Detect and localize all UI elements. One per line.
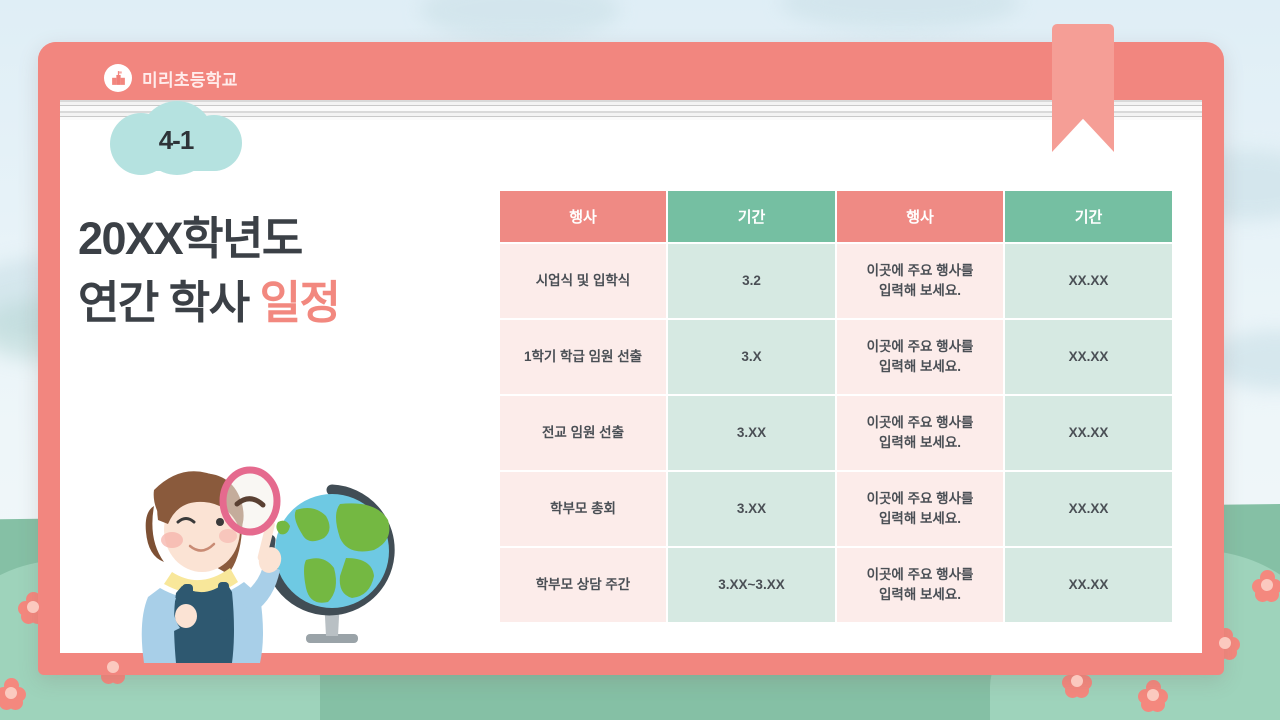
table-row: 시업식 및 입학식3.2이곳에 주요 행사를입력해 보세요.XX.XX [500, 244, 1172, 318]
cell-period-left: 3.2 [668, 244, 835, 318]
cloud-shape [780, 0, 1020, 30]
schedule-table: 행사 기간 행사 기간 시업식 및 입학식3.2이곳에 주요 행사를입력해 보세… [498, 189, 1174, 624]
page-title: 20XX학년도 연간 학사 일정 [78, 207, 458, 335]
flower-icon [1138, 680, 1168, 710]
column-header-event-right: 행사 [837, 191, 1003, 242]
cell-period-left: 3.XX~3.XX [668, 548, 835, 622]
cell-event-right: 이곳에 주요 행사를입력해 보세요. [837, 396, 1003, 470]
cell-period-right: XX.XX [1005, 244, 1172, 318]
cell-period-left: 3.X [668, 320, 835, 394]
column-header-period-left: 기간 [668, 191, 835, 242]
cell-period-right: XX.XX [1005, 320, 1172, 394]
school-building-icon [104, 64, 132, 92]
flower-icon [0, 678, 26, 708]
cell-event-right: 이곳에 주요 행사를입력해 보세요. [837, 472, 1003, 546]
column-header-period-right: 기간 [1005, 191, 1172, 242]
table-row: 학부모 상담 주간3.XX~3.XX이곳에 주요 행사를입력해 보세요.XX.X… [500, 548, 1172, 622]
title-block: 4-1 20XX학년도 연간 학사 일정 [78, 105, 458, 335]
cell-event-left: 학부모 상담 주간 [500, 548, 666, 622]
cell-event-left: 1학기 학급 임원 선출 [500, 320, 666, 394]
table-header-row: 행사 기간 행사 기간 [500, 191, 1172, 242]
title-line-2-plain: 연간 학사 [78, 277, 260, 328]
table-row: 1학기 학급 임원 선출3.X이곳에 주요 행사를입력해 보세요.XX.XX [500, 320, 1172, 394]
cell-event-left: 학부모 총회 [500, 472, 666, 546]
table-row: 전교 임원 선출3.XX이곳에 주요 행사를입력해 보세요.XX.XX [500, 396, 1172, 470]
cell-period-left: 3.XX [668, 472, 835, 546]
title-line-2-accent: 일정 [260, 277, 340, 328]
illustration-girl-with-globe [110, 448, 430, 663]
grade-badge-label: 4-1 [110, 125, 242, 156]
school-logo: 미리초등학교 [104, 64, 238, 92]
column-header-event-left: 행사 [500, 191, 666, 242]
flower-icon [1252, 570, 1280, 600]
cell-event-left: 전교 임원 선출 [500, 396, 666, 470]
cell-period-right: XX.XX [1005, 396, 1172, 470]
cloud-shape [420, 0, 620, 40]
title-line-2: 연간 학사 일정 [78, 271, 458, 335]
cell-period-left: 3.XX [668, 396, 835, 470]
cell-period-right: XX.XX [1005, 548, 1172, 622]
school-name: 미리초등학교 [142, 66, 238, 91]
cell-event-left: 시업식 및 입학식 [500, 244, 666, 318]
grade-badge: 4-1 [110, 105, 242, 173]
cell-event-right: 이곳에 주요 행사를입력해 보세요. [837, 244, 1003, 318]
header-tab-curve [332, 42, 378, 100]
table-row: 학부모 총회3.XX이곳에 주요 행사를입력해 보세요.XX.XX [500, 472, 1172, 546]
cell-event-right: 이곳에 주요 행사를입력해 보세요. [837, 548, 1003, 622]
cell-period-right: XX.XX [1005, 472, 1172, 546]
cell-event-right: 이곳에 주요 행사를입력해 보세요. [837, 320, 1003, 394]
title-line-1: 20XX학년도 [78, 207, 458, 271]
